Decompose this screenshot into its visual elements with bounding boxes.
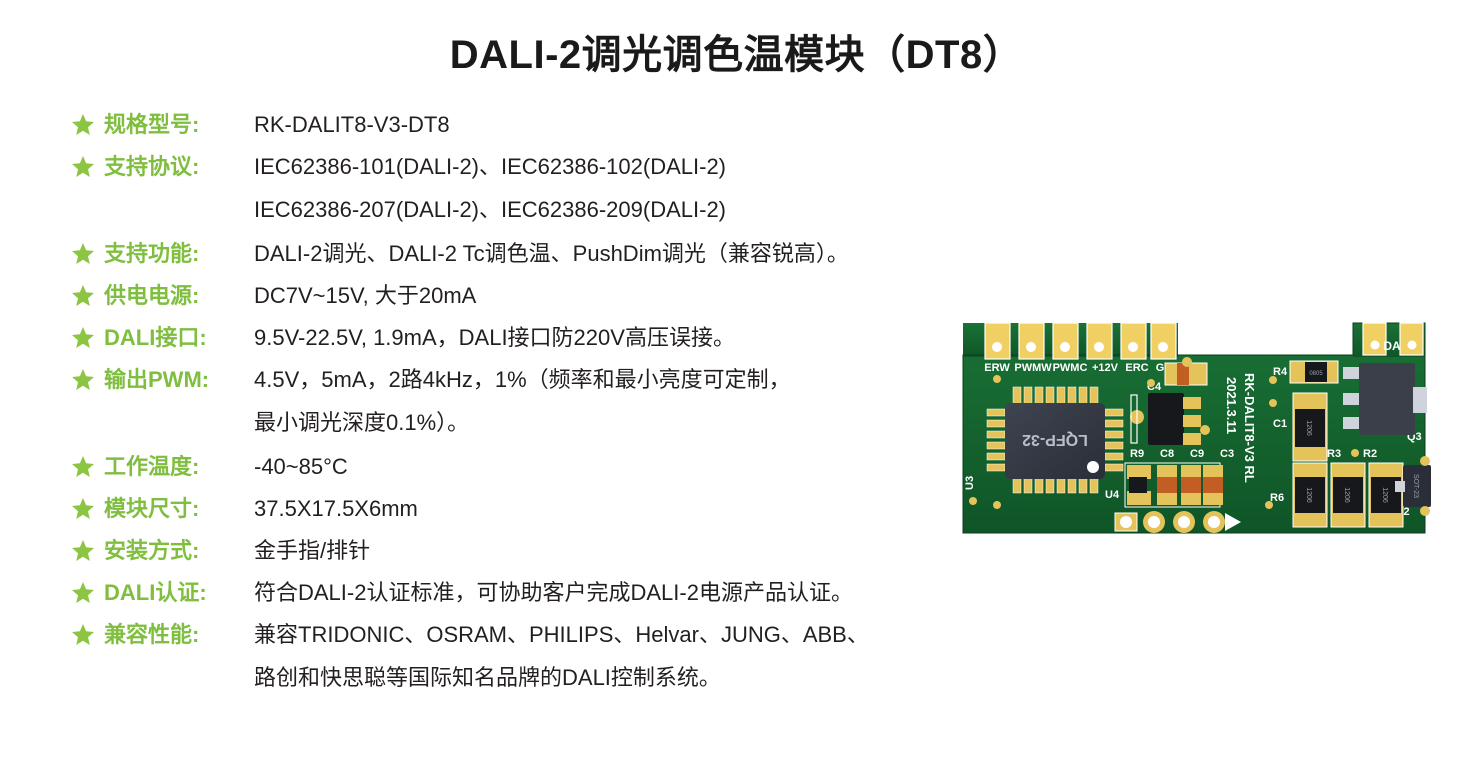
component-q3 xyxy=(1343,363,1427,435)
spec-value-line: 9.5V-22.5V, 1.9mA，DALI接口防220V高压误接。 xyxy=(254,323,1030,353)
spec-label-model: 规格型号: xyxy=(104,110,254,140)
designator-c1: C1 xyxy=(1273,418,1287,430)
component-code: 1206 xyxy=(1305,420,1312,436)
pin-label-12v: +12V xyxy=(1092,362,1119,374)
spec-row-dali-certification: DALI认证: 符合DALI-2认证标准，可协助客户完成DALI-2电源产品认证… xyxy=(70,578,1030,611)
star-icon xyxy=(70,452,96,485)
designator-r2: R2 xyxy=(1363,448,1377,460)
spec-value-line: 金手指/排针 xyxy=(254,536,1030,566)
spec-row-pwm-output: 输出PWM: 4.5V，5mA，2路4kHz，1%（频率和最小亮度可定制， 最小… xyxy=(70,365,1030,438)
spec-value-protocols: IEC62386-101(DALI-2)、IEC62386-102(DALI-2… xyxy=(254,152,1030,225)
spec-value-line: IEC62386-207(DALI-2)、IEC62386-209(DALI-2… xyxy=(254,195,1030,225)
designator-r6: R6 xyxy=(1270,492,1284,504)
component-code: SOT-23 xyxy=(1412,474,1419,498)
star-icon xyxy=(70,323,96,356)
spec-value-module-size: 37.5X17.5X6mm xyxy=(254,494,1030,524)
spec-value-line: 符合DALI-2认证标准，可协助客户完成DALI-2电源产品认证。 xyxy=(254,578,1030,608)
designator-u3: U3 xyxy=(964,476,976,490)
spec-value-line: IEC62386-101(DALI-2)、IEC62386-102(DALI-2… xyxy=(254,152,1030,182)
designator-r3: R3 xyxy=(1327,448,1341,460)
spec-value-model: RK-DALIT8-V3-DT8 xyxy=(254,110,1030,140)
spec-value-line: 37.5X17.5X6mm xyxy=(254,494,1030,524)
pin-label-pwmc: PWMC xyxy=(1053,362,1088,374)
spec-value-line: DC7V~15V, 大于20mA xyxy=(254,281,1030,311)
pin-label-erc: ERC xyxy=(1125,362,1148,374)
spec-value-power-supply: DC7V~15V, 大于20mA xyxy=(254,281,1030,311)
star-icon xyxy=(70,110,96,143)
spec-value-line: 路创和快思聪等国际知名品牌的DALI控制系统。 xyxy=(254,663,1030,693)
spec-value-line: RK-DALIT8-V3-DT8 xyxy=(254,110,1030,140)
spec-label-pwm-output: 输出PWM: xyxy=(104,365,254,395)
designator-r9: R9 xyxy=(1130,448,1144,460)
spec-value-mounting: 金手指/排针 xyxy=(254,536,1030,566)
page-title: DALI-2调光调色温模块（DT8） xyxy=(0,22,1473,80)
spec-label-power-supply: 供电电源: xyxy=(104,281,254,311)
ic-label-lqfp32: LQFP-32 xyxy=(1022,431,1088,448)
spec-label-mounting: 安装方式: xyxy=(104,536,254,566)
spec-value-line: 兼容TRIDONIC、OSRAM、PHILIPS、Helvar、JUNG、ABB… xyxy=(254,620,1030,650)
passive-array-bottom xyxy=(1125,463,1223,507)
spec-row-protocols: 支持协议: IEC62386-101(DALI-2)、IEC62386-102(… xyxy=(70,152,1030,225)
spec-value-operating-temperature: -40~85°C xyxy=(254,452,1030,482)
star-icon xyxy=(70,152,96,185)
spec-label-module-size: 模块尺寸: xyxy=(104,494,254,524)
star-icon xyxy=(70,365,96,398)
spec-row-functions: 支持功能: DALI-2调光、DALI-2 Tc调色温、PushDim调光（兼容… xyxy=(70,239,1030,272)
pin-label-erw: ERW xyxy=(984,362,1010,374)
designator-c8: C8 xyxy=(1160,448,1174,460)
passive-group-right-bottom: 1206 1206 1206 xyxy=(1293,463,1403,527)
designator-c9: C9 xyxy=(1190,448,1204,460)
spec-label-functions: 支持功能: xyxy=(104,239,254,269)
spec-row-compatibility: 兼容性能: 兼容TRIDONIC、OSRAM、PHILIPS、Helvar、JU… xyxy=(70,620,1030,693)
board-marking-partnumber: RK-DALIT8-V3 RL xyxy=(1242,373,1257,483)
spec-value-line: 4.5V，5mA，2路4kHz，1%（频率和最小亮度可定制， xyxy=(254,365,1030,395)
spec-value-dali-interface: 9.5V-22.5V, 1.9mA，DALI接口防220V高压误接。 xyxy=(254,323,1030,353)
star-icon xyxy=(70,239,96,272)
spec-value-line: DALI-2调光、DALI-2 Tc调色温、PushDim调光（兼容锐高）。 xyxy=(254,239,1030,269)
spec-label-dali-interface: DALI接口: xyxy=(104,323,254,353)
designator-c3: C3 xyxy=(1220,448,1234,460)
spec-value-dali-certification: 符合DALI-2认证标准，可协助客户完成DALI-2电源产品认证。 xyxy=(254,578,1030,608)
spec-row-mounting: 安装方式: 金手指/排针 xyxy=(70,536,1030,569)
star-icon xyxy=(70,620,96,653)
spec-row-model: 规格型号: RK-DALIT8-V3-DT8 xyxy=(70,110,1030,143)
component-code: 1206 xyxy=(1343,487,1350,503)
spec-row-power-supply: 供电电源: DC7V~15V, 大于20mA xyxy=(70,281,1030,314)
designator-r4: R4 xyxy=(1273,366,1288,378)
star-icon xyxy=(70,536,96,569)
spec-value-line: -40~85°C xyxy=(254,452,1030,482)
board-marking-date: 2021.3.11 xyxy=(1224,377,1239,434)
star-icon xyxy=(70,494,96,527)
pcb-illustration: ERW PWMW PWMC +12V ERC GND DA xyxy=(955,305,1445,545)
star-icon xyxy=(70,281,96,314)
pin-label-da: DA xyxy=(1383,339,1401,353)
pcb-product-image: ERW PWMW PWMC +12V ERC GND DA xyxy=(955,305,1445,545)
component-code: 0805 xyxy=(1309,371,1323,377)
spec-label-operating-temperature: 工作温度: xyxy=(104,452,254,482)
spec-label-protocols: 支持协议: xyxy=(104,152,254,182)
spec-value-line: 最小调光深度0.1%）。 xyxy=(254,408,1030,438)
spec-row-module-size: 模块尺寸: 37.5X17.5X6mm xyxy=(70,494,1030,527)
spec-value-pwm-output: 4.5V，5mA，2路4kHz，1%（频率和最小亮度可定制， 最小调光深度0.1… xyxy=(254,365,1030,438)
spec-label-compatibility: 兼容性能: xyxy=(104,620,254,650)
component-code: 1206 xyxy=(1381,487,1388,503)
star-icon xyxy=(70,578,96,611)
spec-row-operating-temperature: 工作温度: -40~85°C xyxy=(70,452,1030,485)
pin-label-pwmw: PWMW xyxy=(1014,362,1052,374)
spec-row-dali-interface: DALI接口: 9.5V-22.5V, 1.9mA，DALI接口防220V高压误… xyxy=(70,323,1030,356)
spec-label-dali-certification: DALI认证: xyxy=(104,578,254,608)
component-code: 1206 xyxy=(1305,487,1312,503)
spec-value-compatibility: 兼容TRIDONIC、OSRAM、PHILIPS、Helvar、JUNG、ABB… xyxy=(254,620,1030,693)
spec-value-functions: DALI-2调光、DALI-2 Tc调色温、PushDim调光（兼容锐高）。 xyxy=(254,239,1030,269)
specification-list: 规格型号: RK-DALIT8-V3-DT8 支持协议: IEC62386-10… xyxy=(70,110,1030,702)
designator-u4: U4 xyxy=(1105,489,1120,501)
